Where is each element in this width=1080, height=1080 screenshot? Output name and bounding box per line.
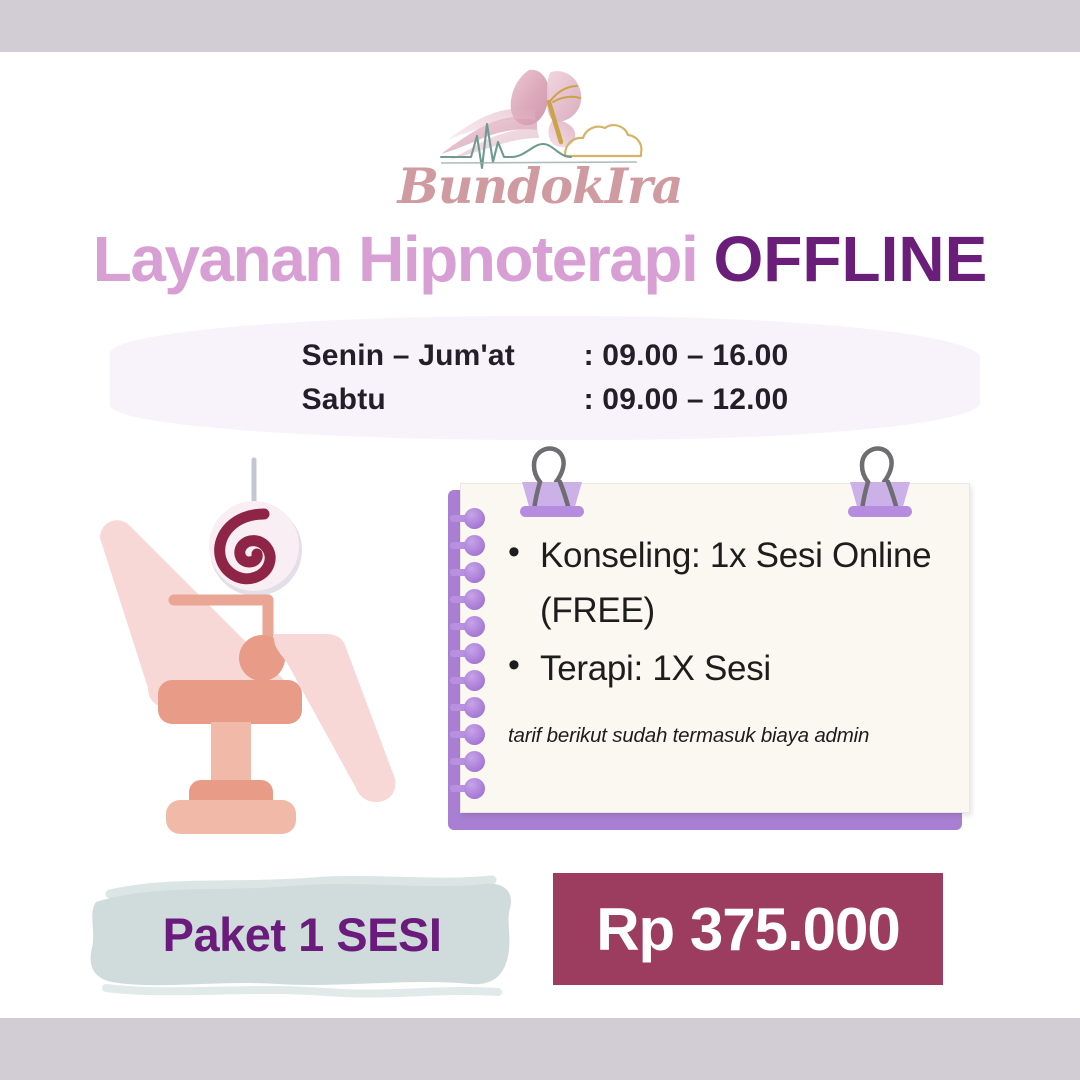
schedule-block: Senin – Jum'at : 09.00 – 16.00 Sabtu : 0… — [110, 316, 980, 440]
butterfly-cloud-heartbeat-logo — [425, 58, 655, 173]
top-frame-band — [0, 0, 1080, 52]
notepad-ring — [450, 751, 484, 772]
schedule-day: Senin – Jum'at — [302, 334, 570, 378]
package-badge: Paket 1 SESI — [82, 868, 522, 1000]
poster-canvas: BundokIra Layanan Hipnoterapi OFFLINE Se… — [0, 0, 1080, 1080]
list-item: Konseling: 1x Sesi Online (FREE) — [506, 528, 936, 639]
schedule-time: : 09.00 – 12.00 — [570, 378, 789, 422]
schedule-table: Senin – Jum'at : 09.00 – 16.00 Sabtu : 0… — [110, 316, 980, 440]
notepad-ring — [450, 508, 484, 529]
binder-clip-icon — [510, 442, 594, 520]
notepad-ring — [450, 778, 484, 799]
notepad-ring — [450, 643, 484, 664]
notepad-ring — [450, 535, 484, 556]
notepad-ring — [450, 589, 484, 610]
price-text: Rp 375.000 — [596, 895, 900, 964]
list-item: Terapi: 1X Sesi — [506, 641, 936, 696]
chair-seat — [158, 680, 302, 724]
schedule-row: Senin – Jum'at : 09.00 – 16.00 — [302, 334, 789, 378]
recliner-therapy-chair — [78, 442, 448, 842]
notepad-ring — [450, 670, 484, 691]
page-title-bold: OFFLINE — [714, 223, 988, 295]
notepad-content: Konseling: 1x Sesi Online (FREE) Terapi:… — [506, 528, 936, 748]
notepad-ring — [450, 697, 484, 718]
page-title: Layanan Hipnoterapi OFFLINE — [0, 222, 1080, 296]
notepad: Konseling: 1x Sesi Online (FREE) Terapi:… — [448, 478, 970, 830]
notepad-ring — [450, 724, 484, 745]
bottom-frame-band — [0, 1018, 1080, 1080]
page-title-light: Layanan Hipnoterapi — [93, 223, 714, 295]
package-label: Paket 1 SESI — [82, 868, 522, 1000]
binder-clip-icon — [838, 442, 922, 520]
notepad-ring — [450, 616, 484, 637]
service-list: Konseling: 1x Sesi Online (FREE) Terapi:… — [506, 528, 936, 696]
schedule-day: Sabtu — [302, 378, 570, 422]
brand-logo: BundokIra — [0, 58, 1080, 223]
schedule-row: Sabtu : 09.00 – 12.00 — [302, 378, 789, 422]
brand-wordmark: BundokIra — [397, 157, 682, 215]
price-box: Rp 375.000 — [553, 873, 943, 985]
notepad-ring — [450, 562, 484, 583]
schedule-time: : 09.00 – 16.00 — [570, 334, 789, 378]
chair-base-lower — [166, 800, 296, 834]
admin-fee-note: tarif berikut sudah termasuk biaya admin — [508, 724, 936, 748]
